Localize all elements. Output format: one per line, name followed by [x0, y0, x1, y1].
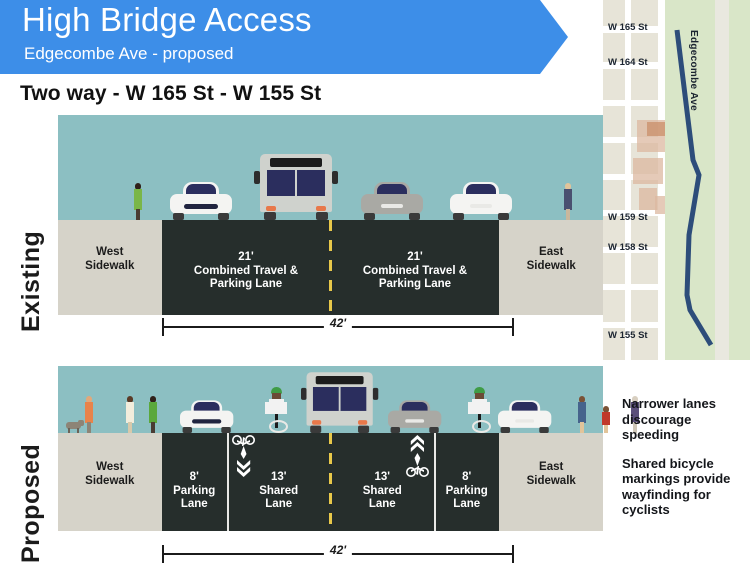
cyclist — [466, 387, 492, 433]
map-street-label: W 155 St — [608, 330, 648, 341]
page-subtitle: Edgecombe Ave - proposed — [24, 44, 234, 64]
sky-background — [58, 115, 603, 220]
segment-label: 8' Parking Lane — [434, 471, 499, 512]
page-title: High Bridge Access — [22, 1, 312, 39]
pedestrian — [84, 394, 94, 433]
vehicle-car-white-2 — [498, 399, 551, 433]
location-map[interactable]: W 165 St W 164 St W 159 St W 158 St W 15… — [603, 0, 750, 360]
pedestrian — [577, 391, 587, 433]
cross-section-proposed: West Sidewalk 8' Parking Lane — [58, 366, 603, 552]
pedestrian — [133, 179, 143, 220]
pedestrian-child — [601, 405, 611, 433]
street-cross-section-existing: West Sidewalk 21' Combined Travel & Park… — [58, 220, 603, 315]
segment-east-sidewalk: East Sidewalk — [499, 220, 603, 315]
header-banner: High Bridge Access Edgecombe Ave - propo… — [0, 0, 540, 74]
section-title: Two way - W 165 St - W 155 St — [20, 82, 321, 106]
segment-west-sidewalk: West Sidewalk — [58, 433, 162, 531]
route-highlight — [603, 0, 750, 360]
segment-label: 13' Shared Lane — [227, 471, 331, 512]
pedestrian — [148, 390, 158, 433]
segment-label: West Sidewalk — [58, 461, 162, 488]
dimension-line-proposed: 42' — [162, 543, 514, 565]
row-label-proposed: Proposed — [17, 383, 46, 563]
callout-note-1: Narrower lanes discourage speeding — [622, 396, 746, 443]
callout-notes: Narrower lanes discourage speeding Share… — [622, 396, 746, 518]
cyclist — [263, 387, 289, 433]
segment-label: 8' Parking Lane — [162, 471, 227, 512]
map-street-label: W 159 St — [608, 212, 648, 223]
segment-east-shared-lane: 13' Shared Lane — [330, 433, 434, 531]
row-label-existing: Existing — [17, 142, 46, 332]
segment-label: East Sidewalk — [499, 246, 603, 273]
segment-west-sidewalk: West Sidewalk — [58, 220, 162, 315]
segment-west-shared-lane: 13' Shared Lane — [227, 433, 331, 531]
segment-label: 21' Combined Travel & Parking Lane — [330, 251, 499, 292]
vehicle-car-grey — [361, 180, 423, 220]
segment-label: 13' Shared Lane — [330, 471, 434, 512]
map-route-label: Edgecombe Ave — [688, 30, 699, 111]
segment-east-combined-lane: 21' Combined Travel & Parking Lane — [330, 220, 499, 315]
street-cross-section-proposed: West Sidewalk 8' Parking Lane — [58, 433, 603, 531]
segment-east-parking-lane: 8' Parking Lane — [434, 433, 499, 531]
dimension-label: 42' — [324, 316, 352, 330]
vehicle-bus — [254, 154, 338, 220]
segment-east-sidewalk: East Sidewalk — [499, 433, 603, 531]
vehicle-car-white — [180, 399, 233, 433]
vehicle-car-white — [170, 180, 232, 220]
vehicle-car-white-2 — [450, 180, 512, 220]
sky-background — [58, 366, 603, 433]
map-street-label: W 164 St — [608, 57, 648, 68]
segment-label: West Sidewalk — [58, 246, 162, 273]
vehicle-car-grey — [388, 399, 441, 433]
segment-label: 21' Combined Travel & Parking Lane — [162, 251, 331, 292]
banner-arrow-icon — [540, 0, 568, 74]
pedestrian — [563, 179, 573, 220]
dog — [66, 417, 84, 433]
pedestrian — [125, 393, 135, 433]
map-street-label: W 158 St — [608, 242, 648, 253]
callout-note-2: Shared bicycle markings provide wayfindi… — [622, 456, 746, 518]
segment-label: East Sidewalk — [499, 461, 603, 488]
segment-west-parking-lane: 8' Parking Lane — [162, 433, 227, 531]
map-street-label: W 165 St — [608, 22, 648, 33]
dimension-line-existing: 42' — [162, 316, 514, 338]
cross-section-existing: West Sidewalk 21' Combined Travel & Park… — [58, 115, 603, 315]
segment-west-combined-lane: 21' Combined Travel & Parking Lane — [162, 220, 331, 315]
vehicle-bus — [301, 372, 378, 433]
dimension-label: 42' — [324, 543, 352, 557]
